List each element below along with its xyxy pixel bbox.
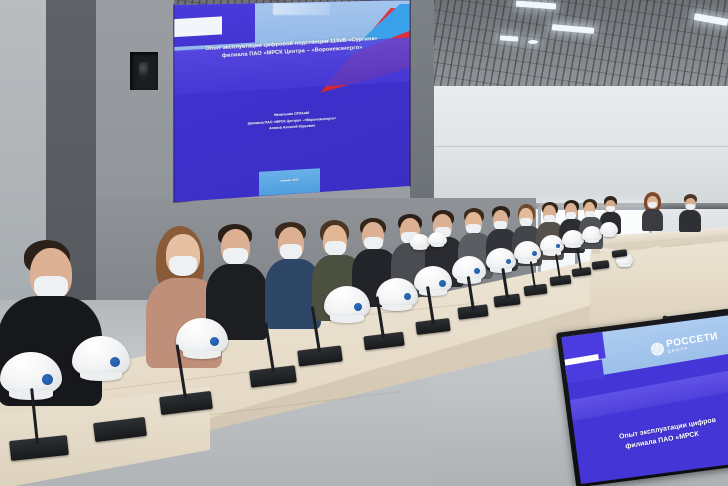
monitor-screen: РОССЕТИ ЦЕНТР Опыт эксплуатации цифров ф… <box>562 315 728 484</box>
hard-hat-10-logo <box>556 244 560 248</box>
back-person-2-mask <box>648 202 657 208</box>
hard-hat-13[interactable] <box>600 222 618 236</box>
hard-hat-5[interactable] <box>376 278 418 309</box>
wall-column-right <box>410 0 434 200</box>
slide-white-block <box>174 17 221 38</box>
screenshot-root: Опыт эксплуатации цифровой подстанции 11… <box>0 0 728 486</box>
ceiling-light-6 <box>528 40 538 44</box>
hard-hat-9[interactable] <box>514 241 541 262</box>
back-person-3-body <box>679 210 701 232</box>
foreground-monitor[interactable]: РОССЕТИ ЦЕНТР Опыт эксплуатации цифров ф… <box>556 310 728 486</box>
hard-hat-4-logo <box>354 303 362 311</box>
slide-logo-top <box>273 3 330 15</box>
hard-hat-7-logo <box>474 268 480 274</box>
attendee-5-mask <box>325 241 346 256</box>
hard-hat-15[interactable] <box>428 232 447 246</box>
projection-screen: Опыт эксплуатации цифровой подстанции 11… <box>174 0 410 202</box>
hard-hat-4[interactable] <box>324 286 370 320</box>
attendee-3-mask <box>223 248 248 265</box>
rosseti-logo-icon <box>650 342 665 357</box>
hard-hat-12[interactable] <box>582 226 602 242</box>
hard-hat-6[interactable] <box>414 266 452 294</box>
hard-hat-6-logo <box>439 280 446 287</box>
hard-hat-2-logo <box>110 357 120 367</box>
hard-hat-9-logo <box>532 251 537 256</box>
back-wall-seam <box>430 146 728 147</box>
attendee-4-mask <box>280 244 302 260</box>
attendee-2-mask <box>169 256 197 276</box>
speaker-icon <box>139 62 148 79</box>
hard-hat-5-logo <box>404 293 411 300</box>
hard-hat-14[interactable] <box>410 234 430 249</box>
hard-hat-1-logo <box>42 374 53 385</box>
hard-hat-11[interactable] <box>562 230 584 247</box>
hard-hat-10[interactable] <box>540 235 564 254</box>
back-person-2-body <box>642 209 663 231</box>
hard-hat-3-logo <box>210 337 219 346</box>
hard-hat-8-logo <box>506 259 511 264</box>
